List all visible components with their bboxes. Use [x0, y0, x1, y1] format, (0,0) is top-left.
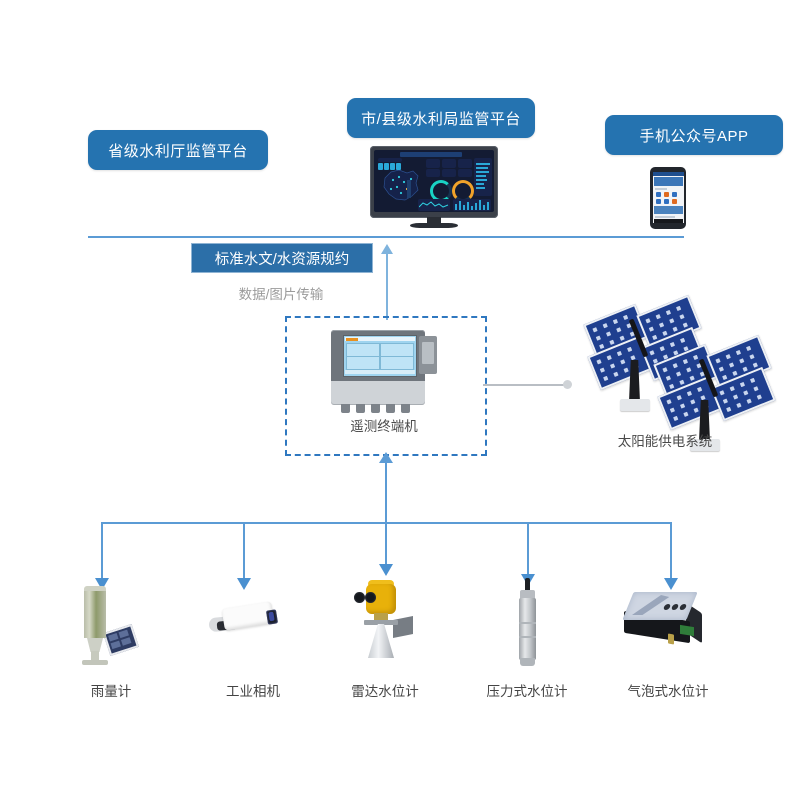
rain-gauge-cylinder [84, 588, 106, 638]
rtu-lcd-screen [343, 335, 417, 377]
sensor-bus-arrow-head [379, 452, 393, 463]
phone-screen [653, 172, 684, 223]
radar-connector-right [365, 592, 376, 603]
bubbler-level-meter-icon [620, 586, 716, 652]
phone-app-icon [656, 199, 661, 204]
protocol-label-box: 标准水文/水资源规约 [191, 243, 373, 273]
rtu-antenna-tip [563, 380, 572, 389]
dashboard-kpi-digit [384, 163, 389, 170]
rtu-cable-gland [341, 404, 350, 413]
phone-app-icon [664, 192, 669, 197]
dashboard-stat-tile [442, 159, 456, 168]
dashboard-stat-tile [426, 169, 440, 177]
dashboard-legend-strip [407, 180, 411, 198]
rain-gauge-cap [84, 586, 106, 591]
pressure-sensor-tip [520, 658, 535, 666]
solar-mount-base [620, 399, 650, 411]
rtu-device-icon [329, 330, 439, 412]
pressure-sensor-band [519, 636, 536, 638]
dashboard-line-series [419, 200, 449, 210]
bubbler-antenna-connector [668, 634, 674, 645]
device-caption-industrial-camera: 工业相机 [183, 680, 323, 700]
uplink-arrow-head [381, 244, 393, 254]
rain-gauge-base [82, 660, 108, 665]
rtu-cable-gland [401, 404, 410, 413]
uplink-arrow-shaft [386, 252, 388, 320]
rain-gauge-icon [62, 586, 152, 670]
phone-body [650, 167, 686, 229]
data-transfer-label: 数据/图片传输 [191, 283, 371, 303]
dashboard-kpi-digit [378, 163, 383, 170]
sensor-drop-line [385, 522, 387, 570]
monitor-icon [370, 146, 498, 228]
phone-banner [654, 177, 683, 186]
rtu-lcd-accent [346, 338, 358, 341]
rtu-lcd-cell [380, 356, 414, 370]
phone-nav-bar [654, 219, 683, 223]
rain-gauge-funnel [87, 638, 103, 652]
solar-power-caption: 太阳能供电系统 [560, 430, 770, 450]
rtu-lower-enclosure [331, 381, 425, 405]
rtu-upper-enclosure [331, 330, 425, 382]
sensor-drop-line [670, 522, 672, 584]
solar-mount-pole [629, 360, 640, 402]
rtu-vent-grille [422, 342, 434, 364]
dashboard-title-bar [400, 152, 462, 157]
rtu-antenna-rod [483, 384, 569, 386]
diagram-canvas: 省级水利厅监管平台 市/县级水利局监管平台 手机公众号APP [0, 0, 800, 800]
rtu-lcd-cell [380, 343, 414, 357]
sensor-bus-riser [385, 460, 387, 523]
smartphone-icon [650, 167, 686, 229]
pressure-level-meter-icon [484, 578, 574, 670]
rain-gauge-solar-panel [103, 624, 139, 656]
platform-municipal-button[interactable]: 市/县级水利局监管平台 [347, 98, 535, 138]
phone-status-bar [653, 172, 684, 176]
rtu-cable-gland [386, 404, 395, 413]
dashboard-kpi-label [378, 158, 402, 162]
radar-level-meter-icon [340, 572, 430, 668]
phone-app-icon [672, 199, 677, 204]
pressure-sensor-body [519, 598, 536, 660]
dashboard-stat-tile [426, 159, 440, 168]
platform-municipal-label: 市/县级水利局监管平台 [361, 108, 521, 129]
phone-photo-card [654, 206, 683, 214]
device-caption-pressure-level-meter: 压力式水位计 [457, 680, 597, 700]
platform-mobile-app-button[interactable]: 手机公众号APP [605, 115, 783, 155]
device-caption-bubbler-level-meter: 气泡式水位计 [598, 680, 738, 700]
dashboard-stat-tile [458, 169, 472, 177]
rtu-lcd-statusbar [345, 370, 415, 374]
protocol-label: 标准水文/水资源规约 [215, 248, 350, 269]
platform-provincial-button[interactable]: 省级水利厅监管平台 [88, 130, 268, 170]
rtu-cable-gland [356, 404, 365, 413]
dashboard-kpi-digit [396, 163, 401, 170]
dashboard-stat-tile [458, 159, 472, 168]
rtu-lcd-cell [346, 343, 380, 357]
rtu-caption: 遥测终端机 [285, 415, 483, 435]
platform-provincial-label: 省级水利厅监管平台 [108, 140, 248, 161]
sensor-drop-line [527, 522, 529, 580]
radar-horn-antenna [368, 624, 394, 658]
uplink-backbone-line [88, 236, 684, 238]
dashboard-kpi-digit [390, 163, 395, 170]
phone-app-icon [672, 192, 677, 197]
device-caption-rain-gauge: 雨量计 [41, 680, 181, 700]
device-caption-radar-level-meter: 雷达水位计 [315, 680, 455, 700]
sensor-drop-line [243, 522, 245, 584]
sensor-drop-line [101, 522, 103, 584]
monitor-screen [374, 150, 494, 212]
sensor-drop-arrow [237, 578, 251, 590]
monitor-stand-base [410, 223, 458, 228]
rtu-lcd-cell [346, 356, 380, 370]
rtu-cable-gland [371, 404, 380, 413]
radar-connector-left [354, 592, 365, 603]
industrial-camera-icon [205, 595, 295, 655]
phone-app-icon [656, 192, 661, 197]
dashboard-map-icon [379, 164, 423, 206]
pressure-sensor-band [519, 622, 536, 624]
phone-app-icon [664, 199, 669, 204]
monitor-bezel [370, 146, 498, 218]
platform-mobile-app-label: 手机公众号APP [639, 125, 748, 146]
dashboard-stat-tile [442, 169, 456, 177]
